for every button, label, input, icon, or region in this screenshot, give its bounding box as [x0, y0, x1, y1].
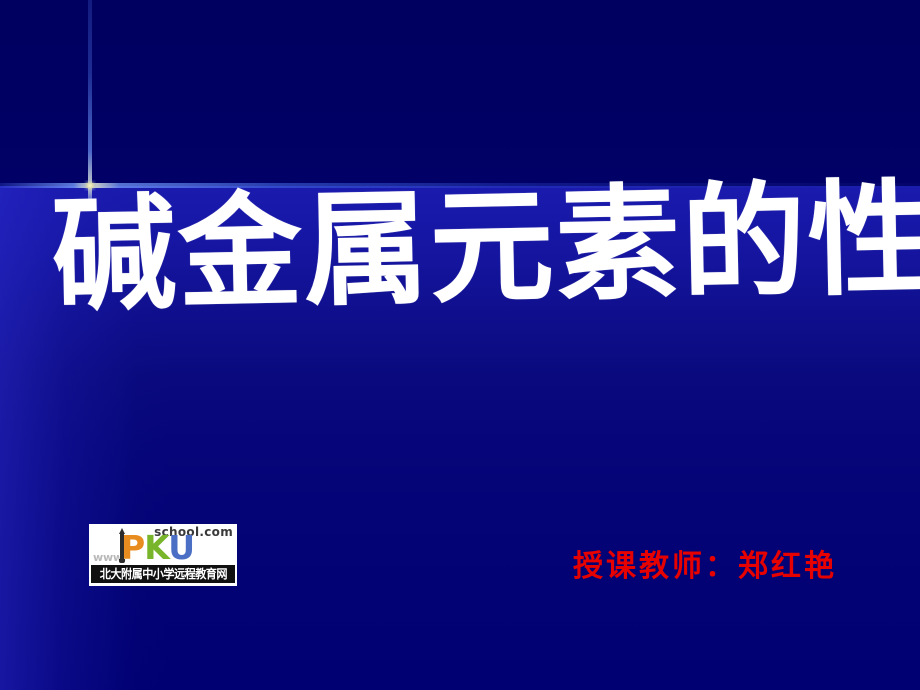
presenter-line: 授课教师：郑红艳	[573, 548, 837, 586]
logo-letter-k: K	[144, 528, 168, 567]
logo-inner: school.com www. PKU 北大附属中小学远程教育网	[89, 524, 237, 586]
logo-pku-wordmark: PKU	[121, 531, 194, 564]
pku-school-logo: school.com www. PKU 北大附属中小学远程教育网	[89, 524, 237, 586]
slide-title: 碱金属元素的性质	[50, 165, 883, 342]
background-band-top	[0, 0, 920, 186]
pencil-end-icon	[119, 559, 125, 563]
presentation-slide: 碱金属元素的性质 school.com www. PKU 北大附属中小学远程教育…	[0, 0, 920, 690]
pencil-icon	[119, 528, 125, 564]
logo-banner: 北大附属中小学远程教育网	[91, 565, 235, 583]
pencil-body-icon	[120, 533, 124, 559]
logo-letter-u: U	[168, 528, 194, 567]
logo-banner-text: 北大附属中小学远程教育网	[99, 568, 226, 580]
